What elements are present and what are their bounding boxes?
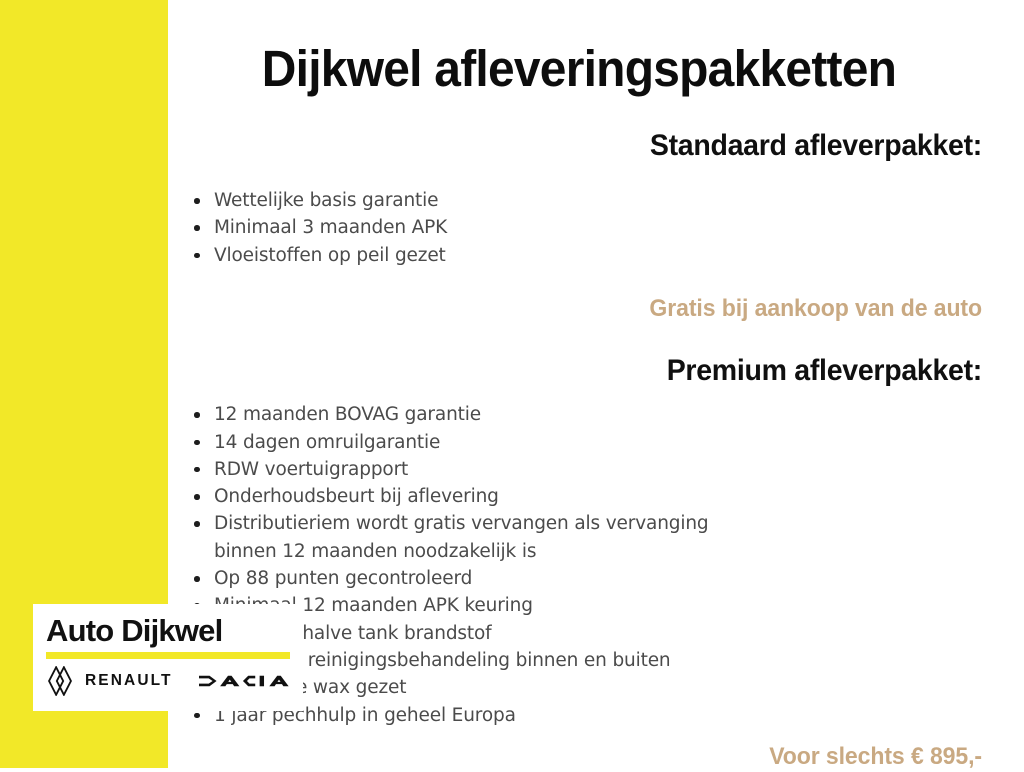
bullet-icon	[194, 576, 200, 582]
list-item-text: Op 88 punten gecontroleerd	[214, 568, 472, 589]
bullet-icon	[194, 494, 200, 500]
list-item-text: Vloeistoffen op peil gezet	[214, 245, 446, 266]
list-item: Wettelijke basis garantie	[176, 187, 982, 214]
bullet-icon	[194, 713, 200, 719]
list-item-text: 14 dagen omruilgarantie	[214, 432, 440, 453]
list-item-text: Wettelijke basis garantie	[214, 190, 438, 211]
list-item: 12 maanden BOVAG garantie	[176, 401, 982, 428]
renault-diamond-icon	[46, 666, 74, 696]
logo-underline-rule	[46, 652, 290, 659]
list-item-text: RDW voertuigrapport	[214, 459, 408, 480]
section-standaard: Standaard afleverpakket: Wettelijke basi…	[176, 96, 982, 324]
bullet-icon	[194, 467, 200, 473]
list-item-text: 12 maanden BOVAG garantie	[214, 404, 481, 425]
poster-canvas: Dijkwel afleveringspakketten Standaard a…	[0, 0, 1024, 768]
bullet-icon	[194, 225, 200, 231]
bullet-icon	[194, 412, 200, 418]
promo-standaard: Gratis bij aankoop van de auto	[208, 269, 982, 324]
brand-row: RENAULT	[46, 666, 290, 696]
feature-list-standaard: Wettelijke basis garantie Minimaal 3 maa…	[176, 163, 982, 269]
list-item: Vloeistoffen op peil gezet	[176, 242, 982, 269]
list-item: Distributieriem wordt gratis vervangen a…	[176, 510, 982, 565]
dealer-wordmark: Auto Dijkwel	[46, 613, 290, 649]
list-item-text: Distributieriem wordt gratis vervangen a…	[214, 513, 709, 534]
bullet-icon	[194, 440, 200, 446]
bullet-icon	[194, 198, 200, 204]
list-item-text: Minimaal 3 maanden APK	[214, 217, 447, 238]
list-item: 14 dagen omruilgarantie	[176, 429, 982, 456]
bullet-icon	[194, 521, 200, 527]
list-item-text: Onderhoudsbeurt bij aflevering	[214, 486, 499, 507]
list-item-continuation: Auto in de wax gezet	[214, 674, 982, 701]
bullet-icon	[194, 253, 200, 259]
list-item: Onderhoudsbeurt bij aflevering	[176, 483, 982, 510]
dacia-logo	[199, 671, 290, 691]
promo-premium-price: Voor slechts € 895,-	[208, 729, 982, 772]
list-item-continuation: binnen 12 maanden noodzakelijk is	[214, 538, 982, 565]
section-heading-standaard: Standaard afleverpakket:	[216, 96, 982, 164]
list-item: Op 88 punten gecontroleerd	[176, 565, 982, 592]
renault-label: RENAULT	[85, 672, 173, 690]
list-item: Minimaal 3 maanden APK	[176, 214, 982, 241]
list-item: RDW voertuigrapport	[176, 456, 982, 483]
section-heading-premium: Premium afleverpakket:	[216, 324, 982, 389]
dealer-logo-card: Auto Dijkwel RENAULT	[33, 604, 303, 711]
page-title: Dijkwel afleveringspakketten	[200, 0, 958, 96]
